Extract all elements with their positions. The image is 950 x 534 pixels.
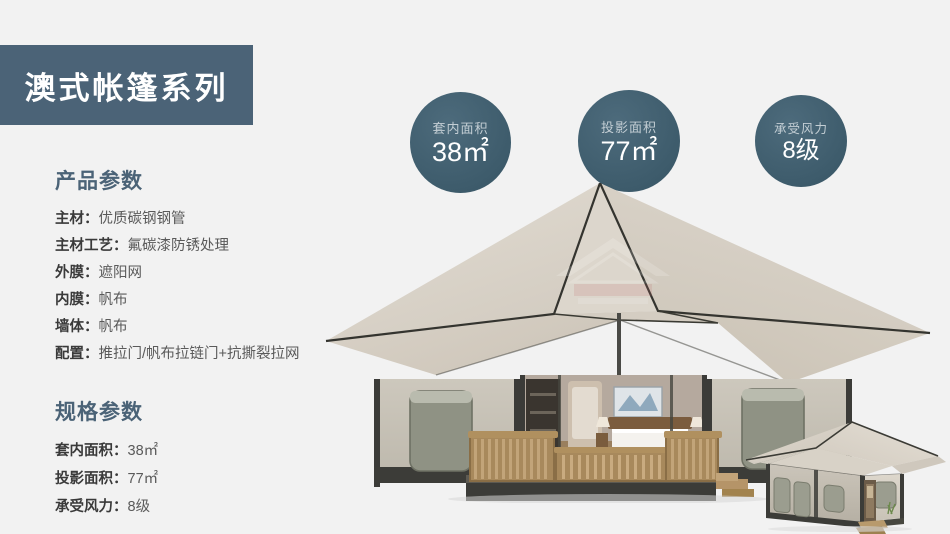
spec-label: 承受风力： [55, 499, 128, 515]
stat-badge-label: 投影面积 [601, 117, 657, 136]
spec-label: 配置： [55, 346, 99, 362]
page-title: 澳式帐篷系列 [25, 63, 229, 108]
spec-value: 推拉门/帆布拉链门+抗撕裂拉网 [99, 346, 300, 362]
stat-badge-interior-area: 套内面积 38㎡ [410, 92, 511, 193]
spec-value: 氟碳漆防锈处理 [128, 238, 230, 254]
spec-value: 优质碳钢钢管 [99, 211, 186, 227]
watermark-logo-icon [538, 232, 688, 308]
spec-label: 主材工艺： [55, 238, 128, 254]
spec-label: 主材： [55, 211, 99, 227]
stat-badge-value: 8级 [782, 138, 819, 163]
inset-tent-image [742, 418, 950, 534]
page-root: 澳式帐篷系列 产品参数 主材：优质碳钢钢管 主材工艺：氟碳漆防锈处理 外膜：遮阳… [0, 0, 950, 534]
brand-watermark [538, 232, 688, 308]
spec-label: 外膜： [55, 265, 99, 281]
spec-value: 遮阳网 [99, 265, 143, 281]
stat-badge-projected-area: 投影面积 77㎡ [578, 90, 680, 192]
stat-badge-value: 38㎡ [432, 138, 489, 166]
spec-label: 墙体： [55, 319, 99, 335]
spec-value: 帆布 [99, 292, 128, 308]
spec-value: 8级 [128, 499, 151, 515]
spec-value: 77㎡ [128, 471, 159, 487]
title-banner: 澳式帐篷系列 [0, 45, 253, 125]
stat-badge-value: 77㎡ [600, 137, 657, 165]
spec-value: 帆布 [99, 319, 128, 335]
spec-value: 38㎡ [128, 443, 159, 459]
stat-badge-label: 套内面积 [432, 118, 488, 137]
spec-label: 内膜： [55, 292, 99, 308]
stat-badge-wind-resistance: 承受风力 8级 [755, 95, 847, 187]
inset-tent-illustration [742, 418, 950, 534]
stat-badge-label: 承受风力 [774, 118, 828, 137]
spec-label: 套内面积： [55, 443, 128, 459]
spec-label: 投影面积： [55, 471, 128, 487]
